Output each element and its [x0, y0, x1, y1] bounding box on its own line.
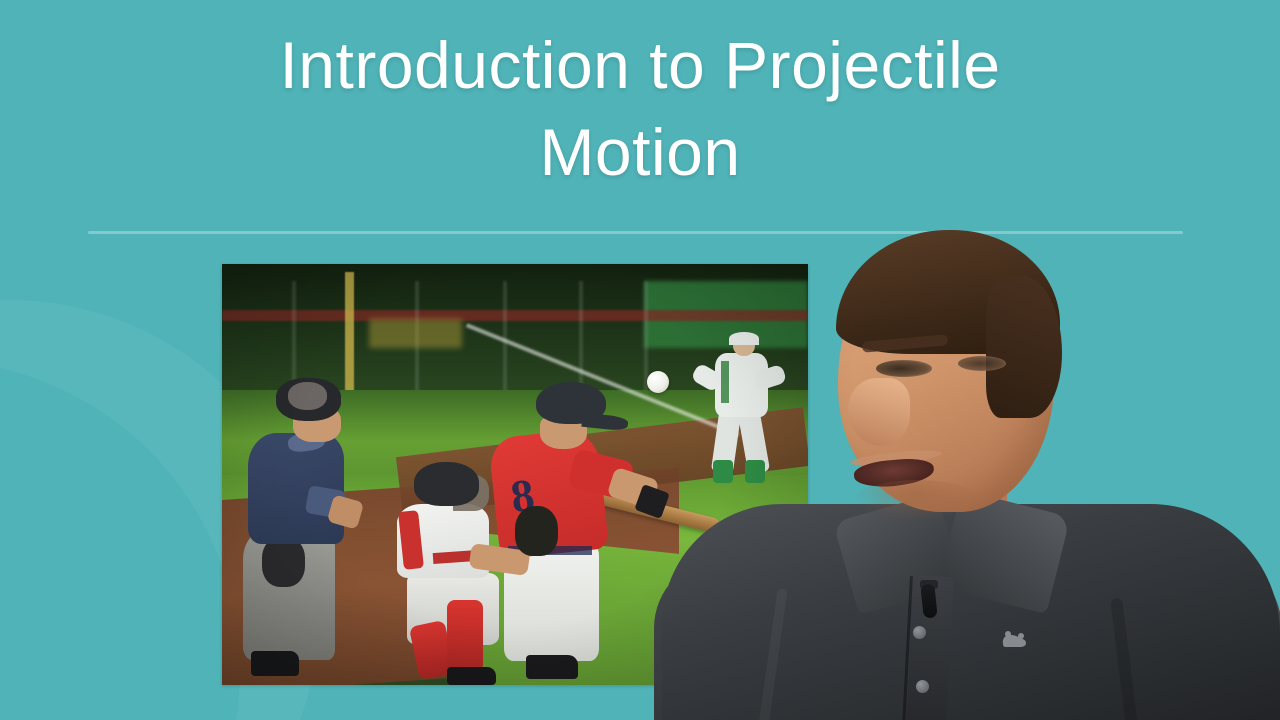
presenter-hair-side [986, 276, 1062, 418]
presenter-shirt-button [913, 626, 926, 639]
presenter-upper-lip [850, 447, 943, 469]
presenter-eyebrow [862, 334, 949, 352]
title-line-2: Motion [90, 109, 1190, 196]
photo-scene: 8 [222, 264, 808, 685]
presenter-collar-left [833, 493, 963, 615]
bear-logo-icon [999, 628, 1029, 650]
lapel-microphone-icon [920, 583, 937, 618]
title-divider [88, 231, 1183, 234]
presenter-ear [1004, 356, 1042, 418]
presenter-hair [836, 230, 1060, 354]
presenter-head [838, 240, 1054, 512]
decorative-arc-mask [0, 360, 240, 720]
page-title: Introduction to Projectile Motion [0, 22, 1280, 196]
presenter-collar-right [938, 490, 1071, 614]
presenter-neck [903, 396, 1007, 536]
presenter-nose [848, 378, 910, 446]
presenter-placket [906, 575, 954, 720]
player-umpire [245, 378, 386, 685]
scene-fence-rail [222, 310, 808, 321]
lapel-microphone-clip [920, 580, 938, 589]
presenter-shirt-button [916, 680, 929, 693]
presenter-mouth [853, 457, 935, 490]
presenter-shoulder-right [1062, 550, 1280, 720]
presenter-placket-seam [902, 576, 913, 720]
scene-outfield-sign [369, 319, 463, 348]
presenter-chin-shadow [854, 480, 980, 520]
presenter-shirt-fold [1110, 598, 1138, 720]
player-fielder [691, 336, 791, 496]
player-catcher [374, 462, 538, 685]
presenter-eye-far [958, 356, 1006, 371]
baseball-photo: 8 [222, 264, 808, 685]
title-line-1: Introduction to Projectile [90, 22, 1190, 109]
presenter-eye-near [876, 360, 932, 377]
slide-canvas: Introduction to Projectile Motion [0, 0, 1280, 720]
